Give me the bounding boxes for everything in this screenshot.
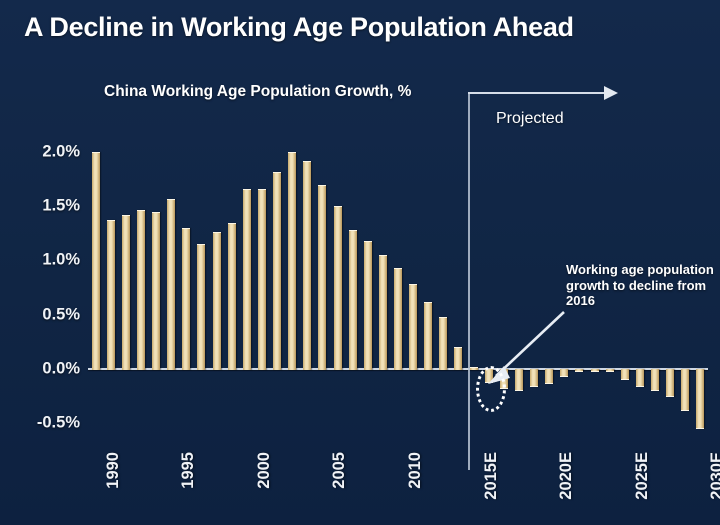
x-axis-tick-label: 1995 [179, 452, 198, 489]
bar [651, 369, 659, 392]
highlight-ellipse [476, 366, 506, 412]
bar [258, 189, 266, 370]
bar [394, 268, 402, 370]
bar [591, 369, 599, 372]
bar [152, 212, 160, 370]
bar [243, 189, 251, 370]
y-axis-tick-label: 0.0% [8, 359, 80, 378]
bar [334, 206, 342, 370]
y-axis-tick-label: -0.5% [8, 413, 80, 432]
bar [364, 241, 372, 370]
bar [530, 369, 538, 387]
projection-arrow-line [468, 92, 608, 94]
bar [621, 369, 629, 380]
y-axis-tick-label: 1.0% [8, 251, 80, 270]
bar [182, 228, 190, 370]
bar [107, 220, 115, 369]
bar [424, 302, 432, 370]
page-title: A Decline in Working Age Population Ahea… [24, 12, 574, 43]
bar [228, 223, 236, 370]
y-axis-tick-label: 0.5% [8, 305, 80, 324]
x-axis-tick-label: 2030E [708, 452, 720, 500]
series-label: China Working Age Population Growth, % [104, 83, 424, 101]
y-axis-tick-label: 2.0% [8, 143, 80, 162]
projection-divider-line [468, 92, 470, 470]
bar [560, 369, 568, 378]
bar [197, 244, 205, 370]
bar [515, 369, 523, 392]
bar [545, 369, 553, 384]
x-axis-tick-label: 2010 [406, 452, 425, 489]
bar [681, 369, 689, 411]
bar [636, 369, 644, 387]
bar [167, 199, 175, 370]
bar [696, 369, 704, 430]
bar [606, 369, 614, 372]
bar [273, 172, 281, 370]
bar [439, 317, 447, 370]
projected-label: Projected [496, 110, 564, 128]
bar [666, 369, 674, 397]
x-axis: 199019952000200520102015E2020E2025E2030E [88, 452, 708, 524]
x-axis-tick-label: 2000 [255, 452, 274, 489]
bar [303, 161, 311, 370]
bar [409, 284, 417, 370]
bar [575, 369, 583, 372]
bar [213, 232, 221, 370]
chart-screenshot: A Decline in Working Age Population Ahea… [0, 0, 720, 525]
bar [318, 185, 326, 370]
bar [92, 152, 100, 370]
bar [122, 215, 130, 370]
x-axis-tick-label: 2005 [330, 452, 349, 489]
bar [349, 230, 357, 370]
annotation-callout-text: Working age population growth to decline… [566, 262, 716, 309]
bar [288, 152, 296, 370]
x-axis-tick-label: 2020E [557, 452, 576, 500]
x-axis-tick-label: 2025E [633, 452, 652, 500]
projection-arrow-icon [604, 86, 618, 100]
bar [454, 347, 462, 370]
y-axis-tick-label: 1.5% [8, 197, 80, 216]
bar [470, 367, 478, 370]
x-axis-tick-label: 2015E [482, 452, 501, 500]
x-axis-tick-label: 1990 [104, 452, 123, 489]
y-axis: 2.0%1.5%1.0%0.5%0.0%-0.5% [0, 125, 80, 450]
bar [137, 210, 145, 370]
bar [379, 255, 387, 370]
